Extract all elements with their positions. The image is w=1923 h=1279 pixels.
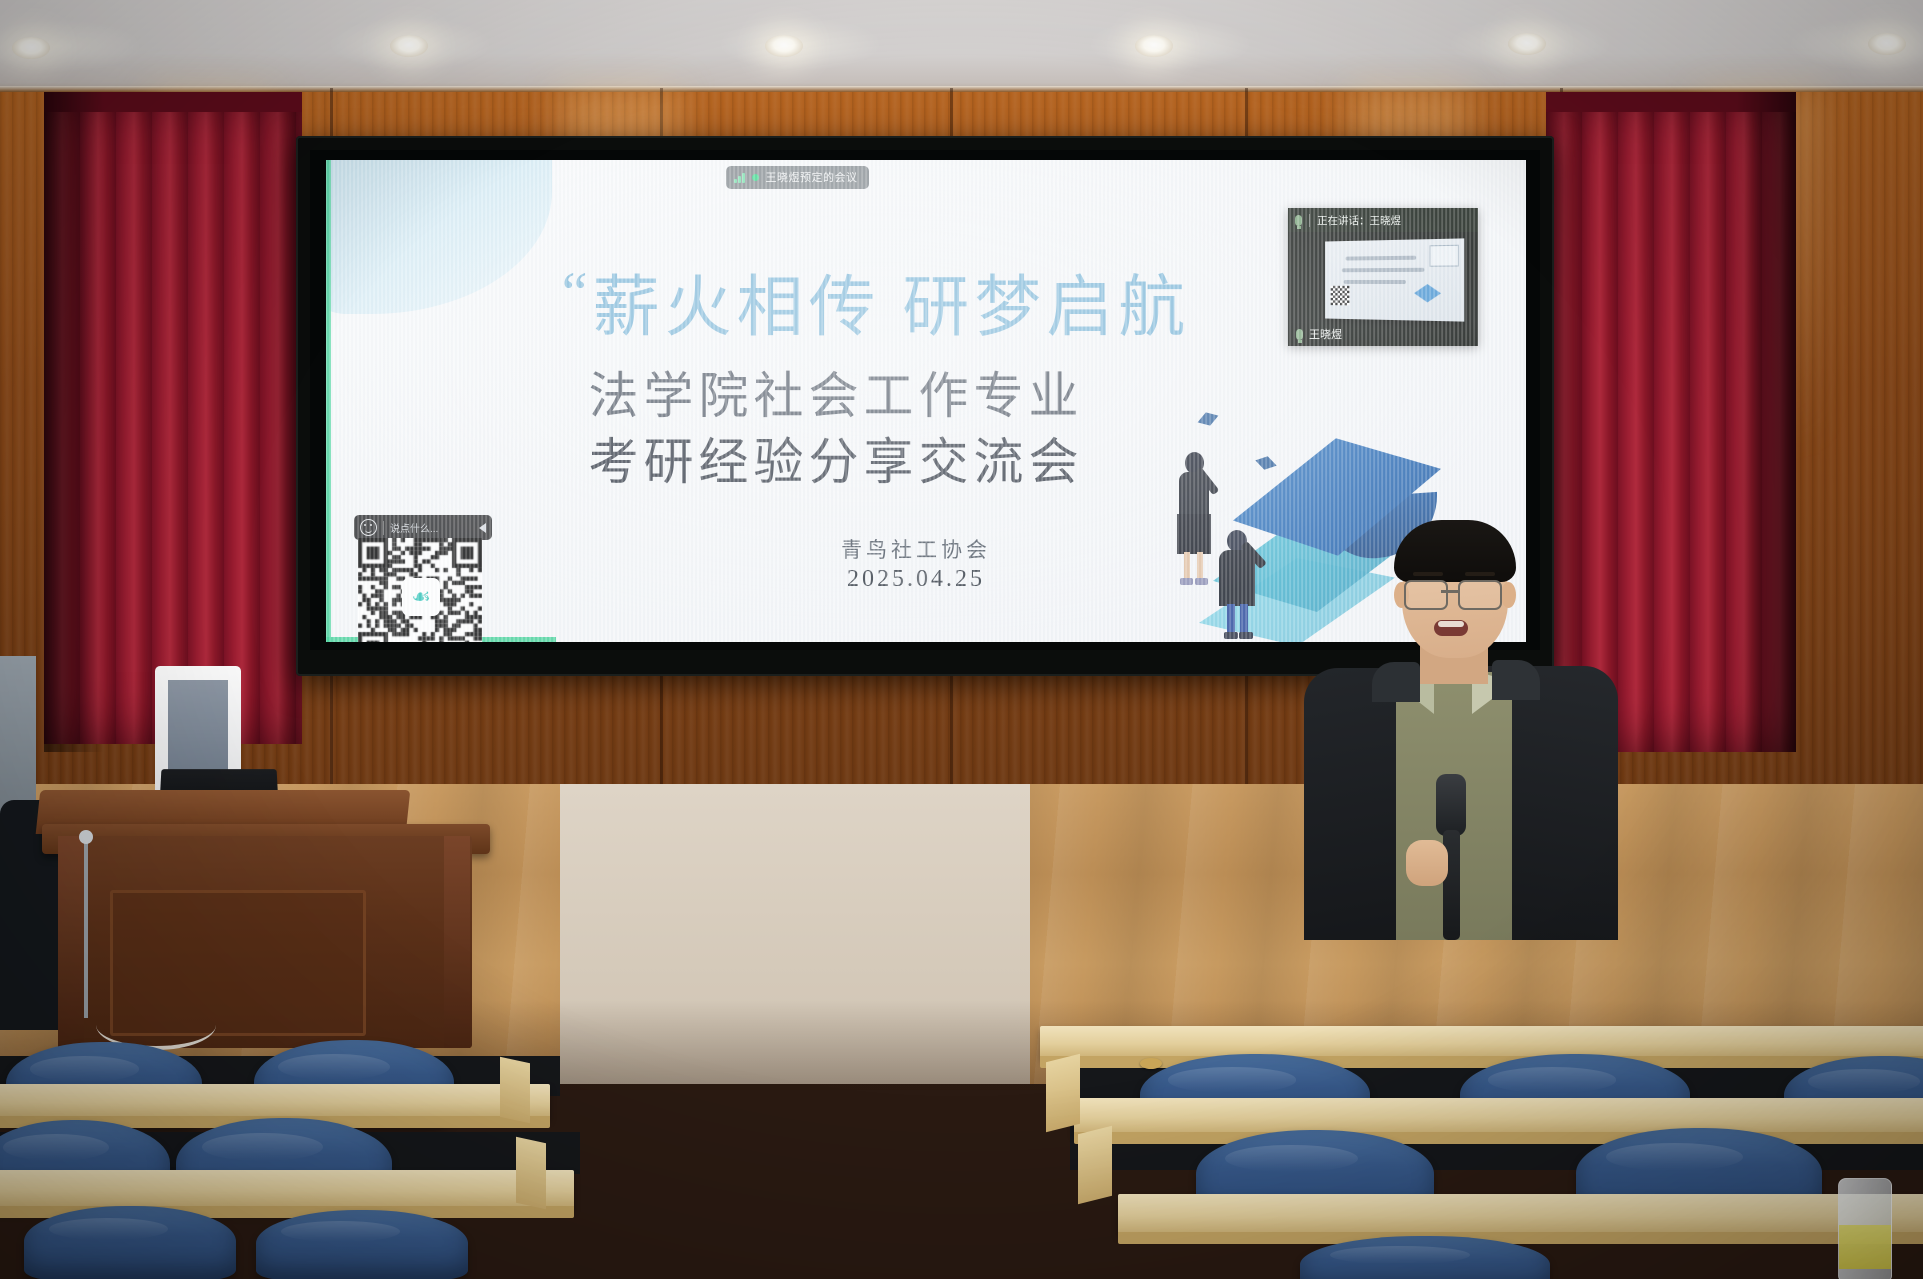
seat[interactable]: [256, 1210, 468, 1279]
desk-end-panel: [500, 1057, 530, 1123]
glasses-lens-right: [1458, 580, 1502, 610]
preview-cap-icon: [1414, 284, 1441, 303]
qr-code[interactable]: ☙: [358, 538, 482, 642]
slide-headline: “薪火相传 研梦启航: [396, 264, 1356, 342]
eyebrow-right: [1465, 572, 1495, 576]
glasses-bridge: [1441, 590, 1459, 593]
hand: [1406, 840, 1448, 886]
flying-cap-icon: [1254, 454, 1279, 473]
recording-dot-icon: [752, 174, 759, 181]
meeting-title-chip: 王晓煜预定的会议: [726, 166, 869, 189]
slide-organization: 青鸟社工协会: [796, 534, 1036, 564]
desk-end-panel: [1078, 1126, 1112, 1204]
ceiling-downlight-icon: [12, 37, 50, 59]
ceiling-downlight-icon: [1135, 35, 1173, 57]
ceiling-downlight-icon: [1868, 33, 1906, 55]
desk-row[interactable]: [1074, 1098, 1923, 1134]
open-quote: “: [562, 260, 593, 325]
eyebrow-left: [1413, 572, 1443, 576]
chat-input-bar[interactable]: 说点什么...: [354, 515, 492, 540]
ceiling: [0, 0, 1923, 92]
desk-end-panel: [516, 1137, 546, 1209]
ceiling-downlight-icon: [765, 35, 803, 57]
slide-subtitle-line2: 考研经验分享交流会: [386, 422, 1286, 494]
pip-divider: [1309, 214, 1310, 227]
mouth: [1434, 620, 1468, 636]
speaking-label: 正在讲话：王晓煜: [1317, 213, 1401, 228]
slide-date: 2025.04.25: [796, 566, 1036, 593]
lectern-side: [444, 836, 470, 1048]
screenshot-root: 王晓煜预定的会议 “薪火相传 研梦启航 法学院社会工作专业 考研经验分享交流会 …: [0, 0, 1923, 1279]
participant-name: 王晓煜: [1309, 326, 1342, 342]
ear-right: [1501, 582, 1516, 608]
video-thumbnail-panel[interactable]: 正在讲话：王晓煜 王晓煜: [1288, 208, 1478, 346]
curtain-shadow: [44, 92, 104, 752]
signal-bars-icon: [734, 172, 745, 183]
chat-placeholder[interactable]: 说点什么...: [390, 520, 473, 535]
desk-row[interactable]: [1040, 1026, 1923, 1058]
glasses-lens-left: [1404, 580, 1448, 610]
ceiling-downlight-icon: [1508, 33, 1546, 55]
slide-headline-text: 薪火相传 研梦启航: [593, 271, 1191, 345]
participant-name-badge: 王晓煜: [1288, 322, 1478, 346]
speaker-icon[interactable]: [479, 523, 486, 533]
seat[interactable]: [24, 1206, 236, 1279]
desk-end-panel: [1046, 1054, 1080, 1132]
microphone-icon: [1295, 215, 1302, 226]
desk-row[interactable]: [0, 1084, 550, 1118]
preview-qr-icon: [1331, 286, 1350, 306]
chat-divider: [383, 521, 384, 535]
desk-knob: [1140, 1058, 1162, 1069]
meeting-title: 王晓煜预定的会议: [766, 169, 858, 185]
desk-row[interactable]: [1118, 1194, 1923, 1234]
slide-edge-accent: [326, 160, 331, 642]
preview-window-icon: [1429, 245, 1458, 267]
lectern-side: [58, 836, 84, 1048]
microphone-icon: [1296, 329, 1303, 340]
hood-left: [1372, 662, 1420, 702]
slide-subtitle-line1: 法学院社会工作专业: [386, 356, 1286, 428]
microphone-stand: [84, 842, 88, 1018]
graduate-figure: [1211, 530, 1273, 642]
shared-screen-preview: [1325, 238, 1464, 321]
curtain-shadow: [1736, 92, 1796, 752]
water-bottle[interactable]: [1838, 1178, 1892, 1279]
speaking-indicator-bar: 正在讲话：王晓煜: [1288, 208, 1478, 232]
handheld-microphone: [1436, 774, 1466, 836]
presenter: [1310, 520, 1610, 940]
smiley-icon[interactable]: [360, 519, 377, 536]
flying-cap-icon: [1195, 409, 1220, 429]
hand-leaf-logo-icon: ☙: [402, 578, 440, 616]
ceiling-downlight-icon: [390, 35, 428, 57]
hood-right: [1492, 660, 1540, 700]
desk-row[interactable]: [0, 1170, 574, 1208]
